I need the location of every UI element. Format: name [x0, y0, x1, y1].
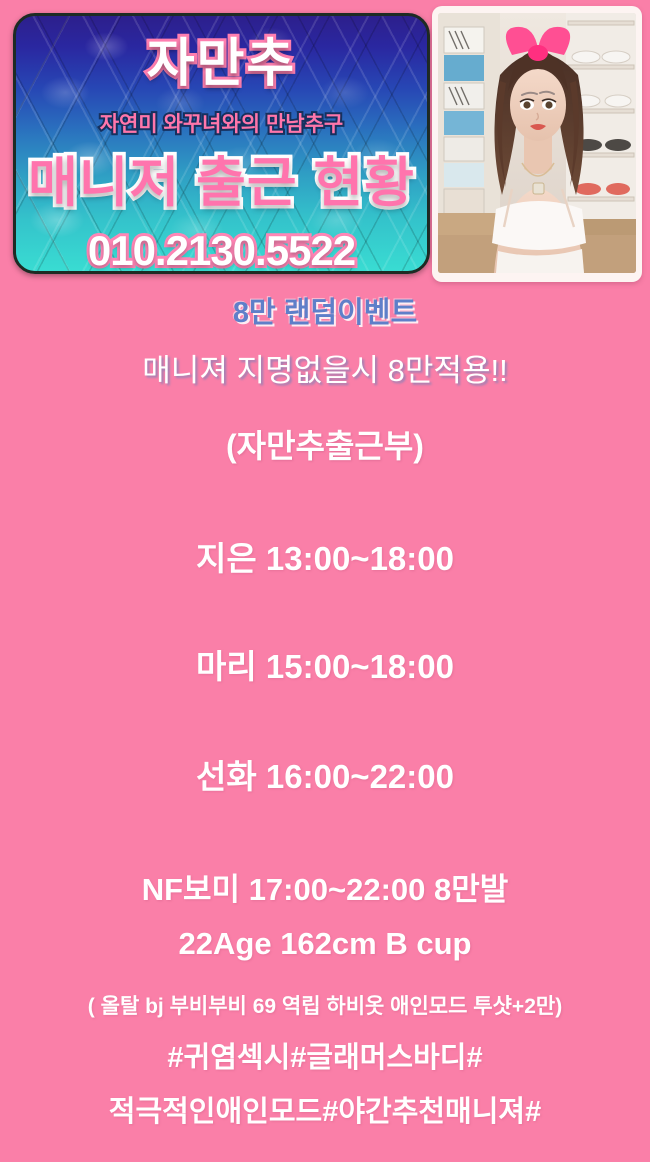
schedule-row-1: 지은 13:00~18:00 [0, 542, 650, 575]
schedule-row-2: 마리 15:00~18:00 [0, 650, 650, 683]
manager-photo-frame[interactable] [432, 6, 642, 282]
featured-manager-headline: NF보미 17:00~22:00 8만발 [0, 874, 650, 905]
manager-photo[interactable] [438, 13, 636, 273]
banner-title: 자만추 [16, 38, 427, 90]
banner-subtitle: 자연미 와꾸녀와의 만남추구 [16, 114, 427, 135]
banner-headline: 매니저 출근 현황 [16, 154, 427, 213]
header-banner-area: 자만추 자연미 와꾸녀와의 만남추구 매니저 출근 현황 010.2130.55… [0, 0, 650, 290]
manager-photo-illustration [438, 13, 636, 273]
banner-phone-number[interactable]: 010.2130.5522 [16, 230, 427, 272]
featured-manager-specs: 22Age 162cm B cup [0, 928, 650, 959]
section-heading: (자만추출근부) [0, 430, 650, 462]
hashtags-line-1: #귀염섹시#글래머스바디# [0, 1044, 650, 1073]
event-note: 매니져 지명없을시 8만적용!! [0, 355, 650, 386]
banner-content: 자만추 자연미 와꾸녀와의 만남추구 매니저 출근 현황 010.2130.55… [16, 16, 427, 271]
featured-manager-options: ( 올탈 bj 부비부비 69 역립 하비옷 애인모드 투샷+2만) [0, 996, 650, 1017]
schedule-row-3: 선화 16:00~22:00 [0, 760, 650, 793]
hashtags-line-2: 적극적인애인모드#야간추천매니져# [0, 1098, 650, 1127]
event-headline: 8만 랜덤이벤트 [0, 299, 650, 328]
promo-banner: 자만추 자연미 와꾸녀와의 만남추구 매니저 출근 현황 010.2130.55… [13, 13, 430, 274]
